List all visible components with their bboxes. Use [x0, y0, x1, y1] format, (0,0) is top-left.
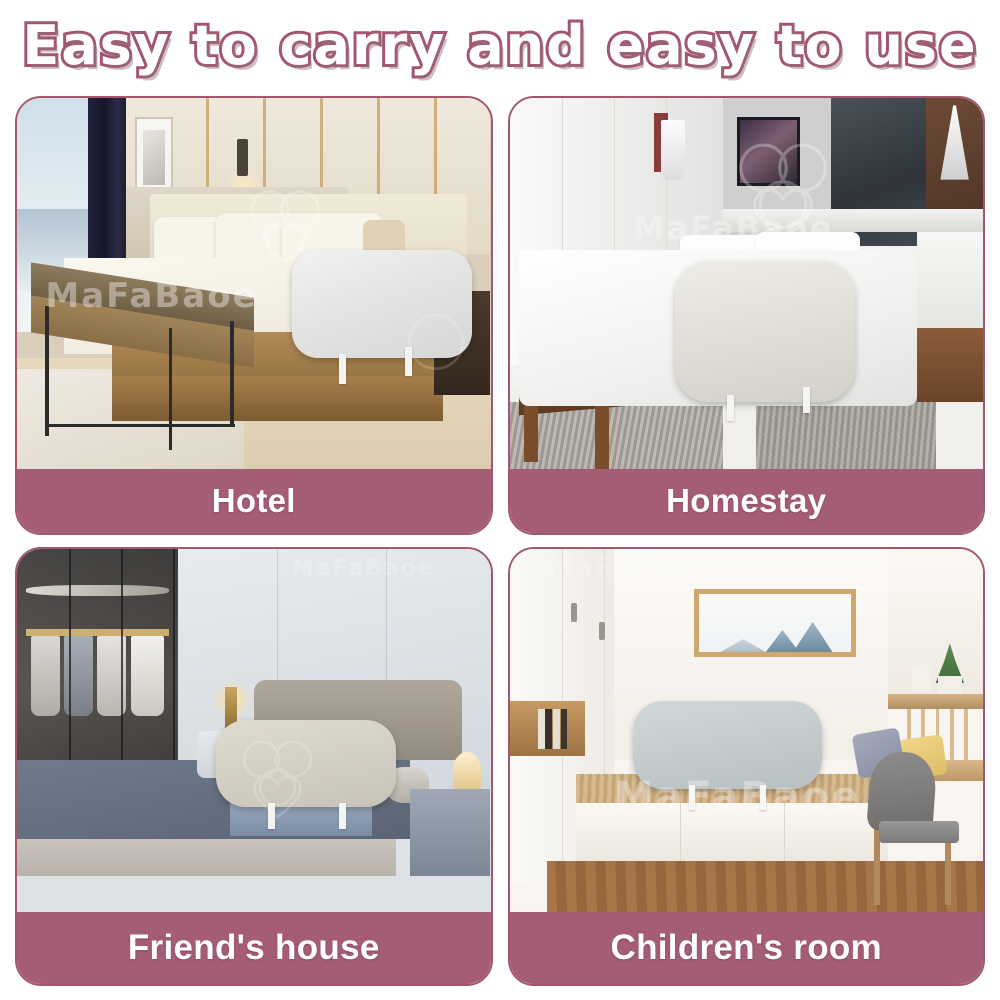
childrens-room-photo: MaFaBaoe MaFaBaoe: [510, 549, 984, 912]
homestay-bedroom-photo: MaFaBaoe: [510, 98, 984, 469]
scenario-card-childrens-room[interactable]: MaFaBaoe MaFaBaoe Children's room: [508, 547, 986, 986]
card-caption-friends-house: Friend's house: [17, 912, 491, 984]
page-header: Easy to carry and easy to use: [0, 0, 1000, 90]
card-caption-hotel: Hotel: [17, 469, 491, 533]
card-caption-childrens-room: Children's room: [510, 912, 984, 984]
page-title: Easy to carry and easy to use: [22, 14, 977, 77]
hotel-bedroom-photo: MaFaBaoe: [17, 98, 491, 469]
bed-rail-guard: [633, 701, 822, 788]
card-caption-homestay: Homestay: [510, 469, 984, 533]
scenario-card-friends-house[interactable]: MaFaBaoe Friend's house: [15, 547, 493, 986]
bed-rail-guard: [216, 720, 396, 807]
bed-rail-guard: [292, 250, 472, 358]
bed-rail-guard: [675, 261, 855, 402]
scenario-card-homestay[interactable]: MaFaBaoe Homestay: [508, 96, 986, 535]
friends-house-bedroom-photo: MaFaBaoe: [17, 549, 491, 912]
scenario-grid: MaFaBaoe Hotel: [15, 96, 985, 986]
scenario-card-hotel[interactable]: MaFaBaoe Hotel: [15, 96, 493, 535]
